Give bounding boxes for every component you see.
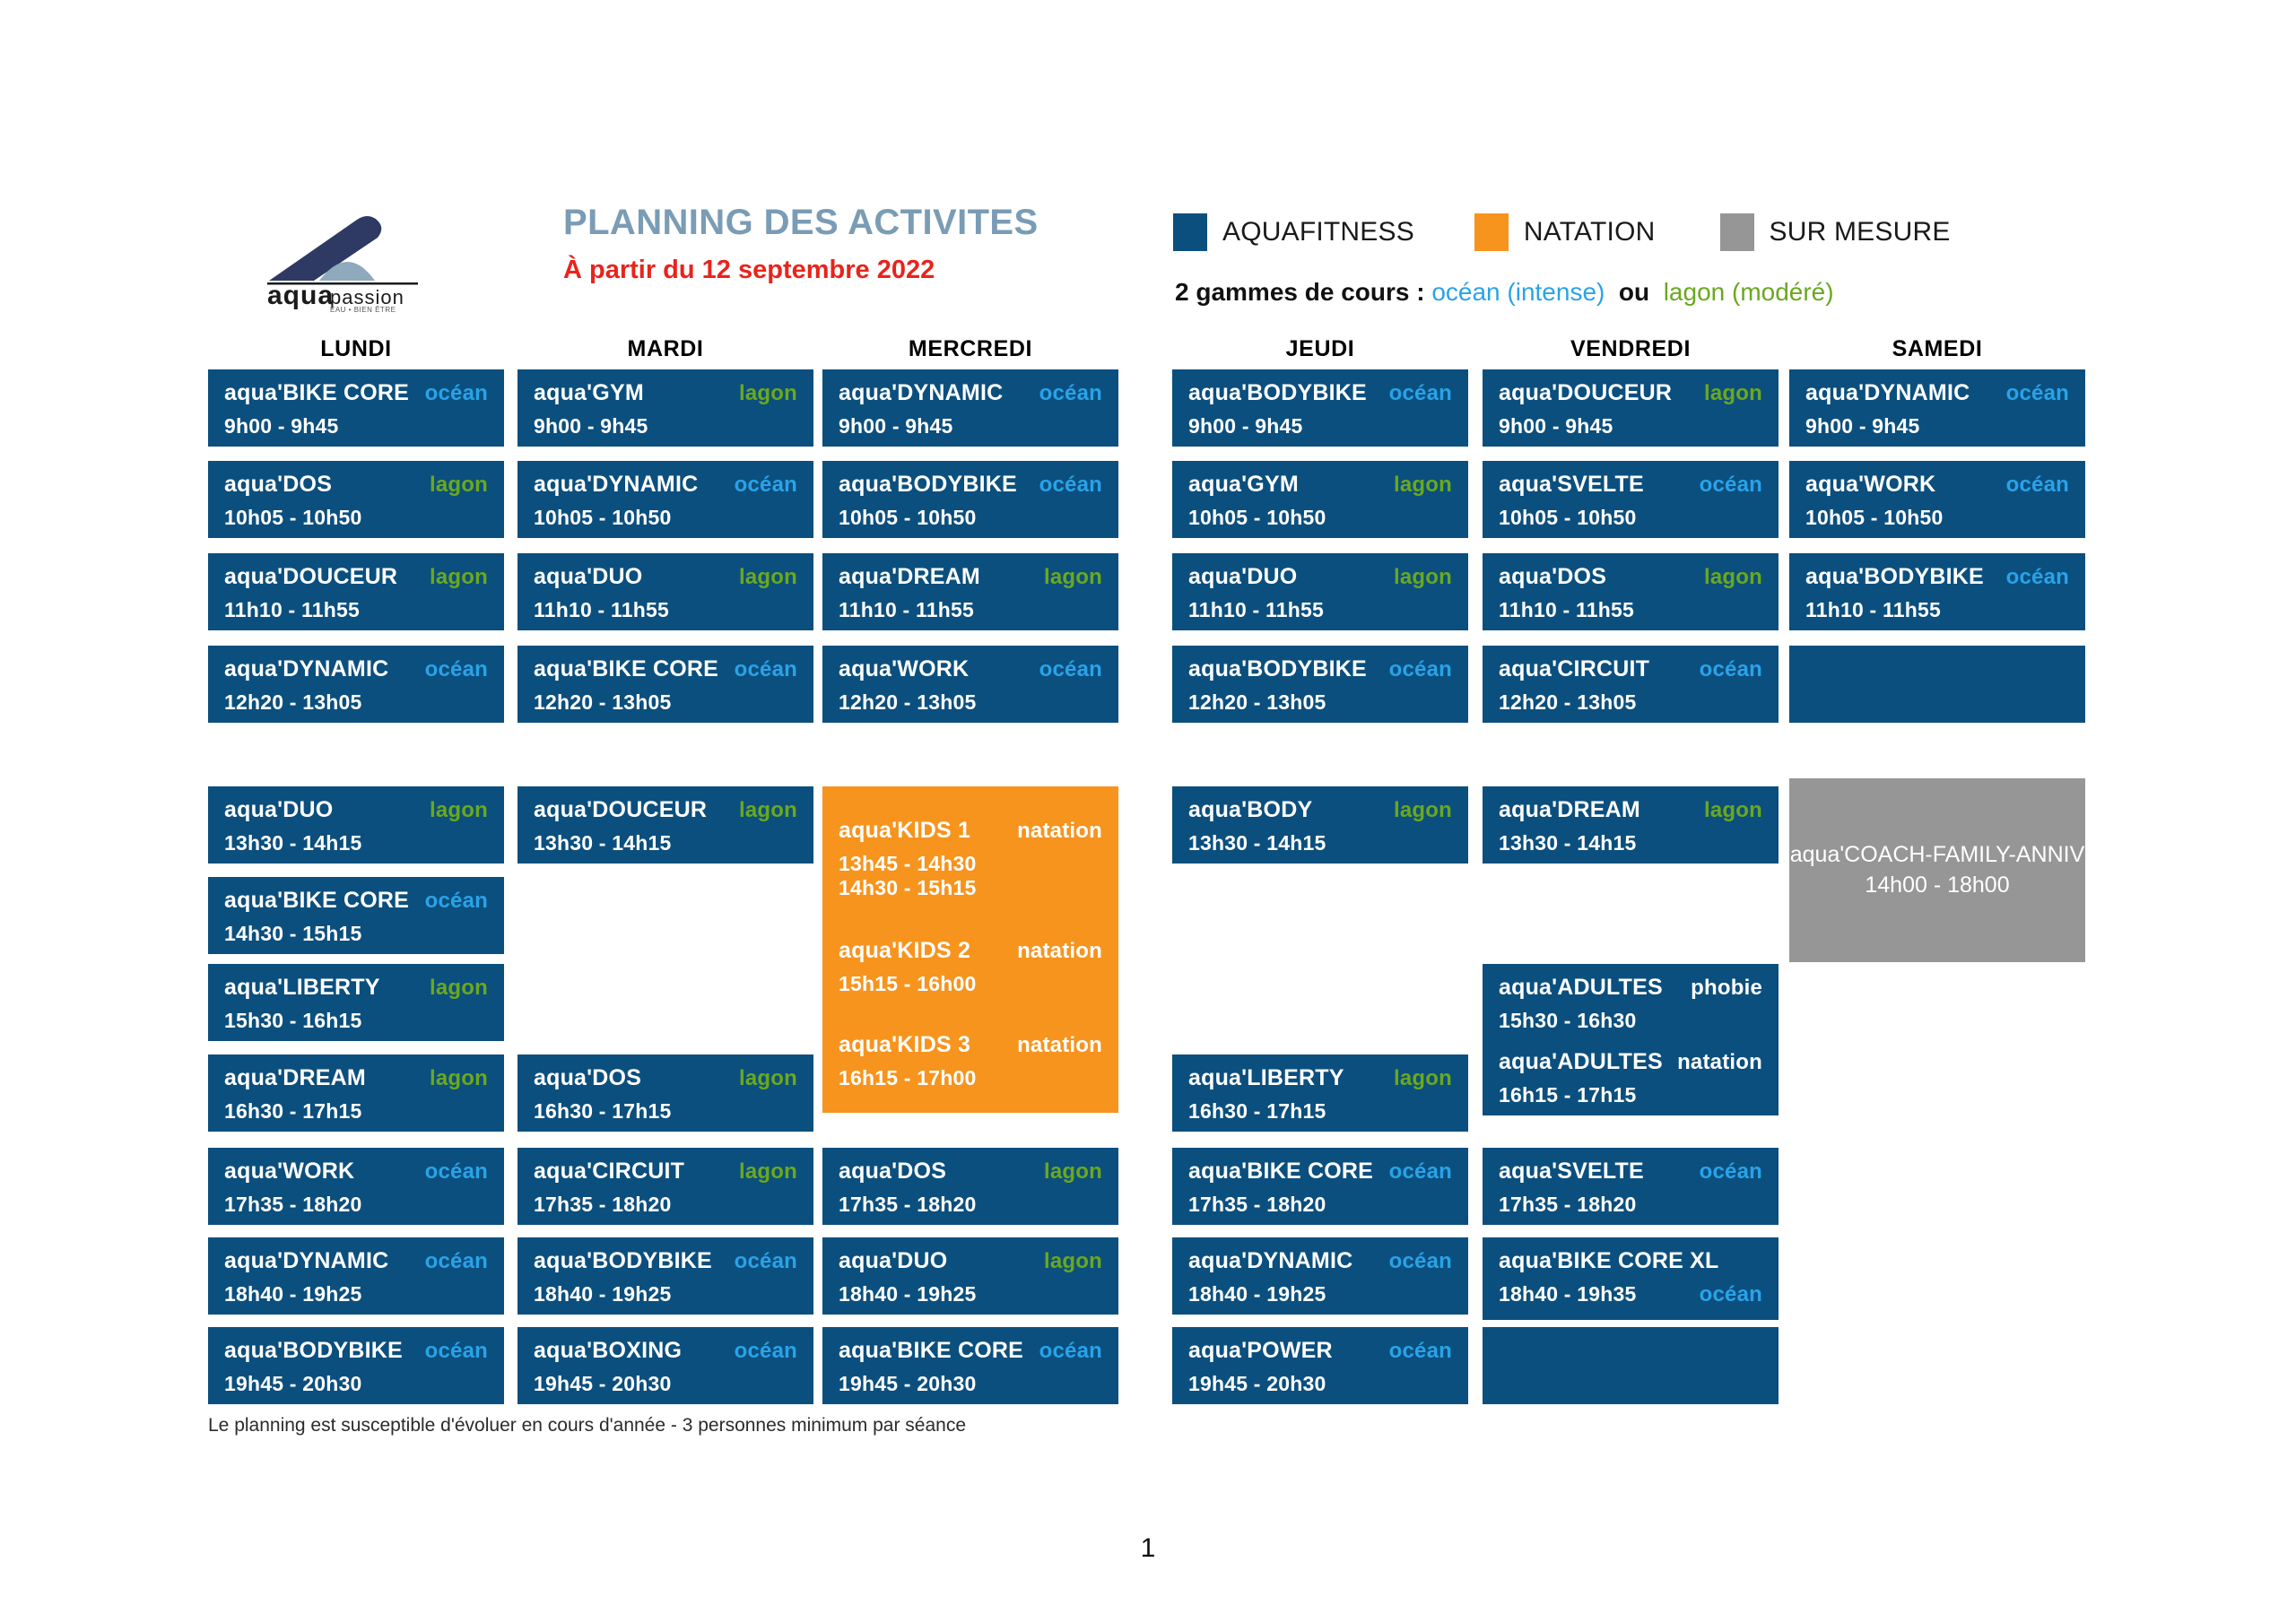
course-card[interactable]: aqua'DYNAMICocéan18h40 - 19h25 [1172, 1237, 1468, 1315]
course-tag: océan [2006, 383, 2069, 404]
course-card[interactable]: aqua'DOUCEURlagon11h10 - 11h55 [208, 553, 504, 630]
course-tag: lagon [1394, 800, 1452, 821]
course-time: 16h15 - 17h00 [839, 1066, 1102, 1090]
course-time: 10h05 - 10h50 [224, 506, 488, 530]
course-name: aqua'DUO [1188, 566, 1297, 588]
course-name: aqua'BIKE CORE [1188, 1160, 1373, 1183]
course-tag: océan [425, 383, 488, 404]
course-card[interactable]: aqua'DUOlagon18h40 - 19h25 [822, 1237, 1118, 1315]
course-card[interactable]: aqua'SVELTEocéan10h05 - 10h50 [1483, 461, 1779, 538]
course-tag: océan [735, 659, 797, 681]
course-name: aqua'DUO [224, 799, 333, 821]
course-tag: natation [1017, 820, 1102, 842]
course-card[interactable]: aqua'DYNAMICocéan10h05 - 10h50 [517, 461, 813, 538]
course-time: 18h40 - 19h25 [534, 1282, 797, 1306]
course-name: aqua'DUO [534, 566, 642, 588]
course-name: aqua'DREAM [224, 1067, 366, 1089]
course-card[interactable]: aqua'DOSlagon11h10 - 11h55 [1483, 553, 1779, 630]
course-time: 13h30 - 14h15 [1499, 831, 1762, 855]
course-card[interactable]: aqua'DREAMlagon13h30 - 14h15 [1483, 786, 1779, 864]
course-card[interactable]: aqua'WORKocéan10h05 - 10h50 [1789, 461, 2085, 538]
course-time-secondary: 14h30 - 15h15 [839, 876, 1102, 900]
course-tag: océan [2006, 567, 2069, 588]
course-tag: phobie [1691, 977, 1762, 999]
course-name: aqua'BODY [1188, 799, 1312, 821]
course-time: 14h30 - 15h15 [224, 922, 488, 946]
course-name: aqua'DREAM [1499, 799, 1640, 821]
course-name: aqua'LIBERTY [1188, 1067, 1344, 1089]
course-card[interactable]: aqua'BODYBIKEocéan12h20 - 13h05 [1172, 646, 1468, 723]
course-name: aqua'KIDS 2 [839, 940, 970, 962]
course-name: aqua'DOUCEUR [224, 566, 397, 588]
course-name: aqua'DYNAMIC [224, 1250, 388, 1272]
course-time: 18h40 - 19h25 [1188, 1282, 1452, 1306]
course-tag: océan [1039, 474, 1102, 496]
course-tag: lagon [739, 1161, 797, 1183]
course-name: aqua'KIDS 3 [839, 1034, 970, 1056]
course-tag: lagon [739, 1068, 797, 1089]
course-time: 16h15 - 17h15 [1499, 1083, 1762, 1107]
course-card[interactable]: aqua'KIDS 1natation13h45 - 14h3014h30 - … [839, 820, 1102, 900]
course-name: aqua'DYNAMIC [224, 658, 388, 681]
course-card[interactable]: aqua'ADULTESnatation16h15 - 17h15 [1483, 1038, 1779, 1115]
course-tag: océan [1700, 659, 1762, 681]
course-name: aqua'DYNAMIC [534, 473, 698, 496]
course-name: aqua'GYM [534, 382, 644, 404]
course-tag: natation [1017, 941, 1102, 962]
course-card[interactable]: aqua'BIKE COREocéan19h45 - 20h30 [822, 1327, 1118, 1404]
course-name: aqua'SVELTE [1499, 473, 1644, 496]
course-name: aqua'BODYBIKE [534, 1250, 712, 1272]
course-name: aqua'BODYBIKE [224, 1340, 403, 1362]
course-time: 17h35 - 18h20 [534, 1193, 797, 1217]
course-card[interactable]: aqua'POWERocéan19h45 - 20h30 [1172, 1327, 1468, 1404]
course-card[interactable]: aqua'DOSlagon16h30 - 17h15 [517, 1055, 813, 1132]
course-name: aqua'BODYBIKE [1188, 658, 1367, 681]
course-card-empty [1483, 1327, 1779, 1404]
course-card[interactable]: aqua'BOXINGocéan19h45 - 20h30 [517, 1327, 813, 1404]
course-time: 9h00 - 9h45 [1188, 414, 1452, 438]
course-time: 10h05 - 10h50 [1188, 506, 1452, 530]
course-card[interactable]: aqua'WORKocéan12h20 - 13h05 [822, 646, 1118, 723]
course-name: aqua'DOS [534, 1067, 641, 1089]
page-number: 1 [0, 1533, 2296, 1564]
course-card[interactable]: aqua'ADULTESphobie15h30 - 16h30 [1483, 964, 1779, 1041]
course-name: aqua'DOUCEUR [534, 799, 707, 821]
course-tag: océan [1700, 1161, 1762, 1183]
course-card[interactable]: aqua'CIRCUITocéan12h20 - 13h05 [1483, 646, 1779, 723]
course-name: aqua'BOXING [534, 1340, 682, 1362]
course-name: aqua'BODYBIKE [1188, 382, 1367, 404]
course-card[interactable]: aqua'DYNAMICocéan9h00 - 9h45 [822, 369, 1118, 447]
natation-kids-block[interactable]: aqua'KIDS 1natation13h45 - 14h3014h30 - … [822, 786, 1118, 1113]
course-tag: natation [1017, 1035, 1102, 1056]
course-tag: lagon [739, 800, 797, 821]
course-card[interactable]: aqua'DOUCEURlagon13h30 - 14h15 [517, 786, 813, 864]
course-name: aqua'COACH-FAMILY-ANNIV [1790, 840, 2085, 871]
course-time: 19h45 - 20h30 [224, 1372, 488, 1396]
course-card[interactable]: aqua'BODYBIKEocéan10h05 - 10h50 [822, 461, 1118, 538]
course-card[interactable]: aqua'DUOlagon13h30 - 14h15 [208, 786, 504, 864]
course-time: 11h10 - 11h55 [534, 598, 797, 622]
course-time: 12h20 - 13h05 [534, 690, 797, 715]
course-time: 15h30 - 16h30 [1499, 1009, 1762, 1033]
course-name: aqua'DYNAMIC [1188, 1250, 1352, 1272]
course-card[interactable]: aqua'LIBERTYlagon16h30 - 17h15 [1172, 1055, 1468, 1132]
course-tag: océan [1039, 659, 1102, 681]
course-time: 12h20 - 13h05 [1188, 690, 1452, 715]
course-tag: océan [735, 1251, 797, 1272]
course-time: 18h40 - 19h25 [224, 1282, 488, 1306]
course-tag: lagon [1704, 567, 1762, 588]
course-time: 9h00 - 9h45 [1805, 414, 2069, 438]
sur-mesure-block[interactable]: aqua'COACH-FAMILY-ANNIV14h00 - 18h00 [1789, 778, 2085, 962]
course-tag: océan [425, 1341, 488, 1362]
course-name: aqua'KIDS 1 [839, 820, 970, 842]
course-time: 9h00 - 9h45 [839, 414, 1102, 438]
course-time: 19h45 - 20h30 [534, 1372, 797, 1396]
course-time: 18h40 - 19h35 [1499, 1282, 1636, 1306]
course-name: aqua'DYNAMIC [1805, 382, 1970, 404]
course-tag: lagon [1044, 1251, 1102, 1272]
course-card[interactable]: aqua'WORKocéan17h35 - 18h20 [208, 1148, 504, 1225]
course-card[interactable]: aqua'DOSlagon10h05 - 10h50 [208, 461, 504, 538]
course-card[interactable]: aqua'BIKE COREocéan9h00 - 9h45 [208, 369, 504, 447]
course-name: aqua'DREAM [839, 566, 980, 588]
course-name: aqua'POWER [1188, 1340, 1333, 1362]
course-card[interactable]: aqua'KIDS 3natation16h15 - 17h00 [839, 1034, 1102, 1090]
course-name: aqua'ADULTES [1499, 1051, 1663, 1073]
course-tag: lagon [739, 567, 797, 588]
course-name: aqua'BODYBIKE [1805, 566, 1984, 588]
course-time: 17h35 - 18h20 [839, 1193, 1102, 1217]
course-time: 19h45 - 20h30 [839, 1372, 1102, 1396]
course-name: aqua'DOS [1499, 566, 1606, 588]
course-card[interactable]: aqua'GYMlagon10h05 - 10h50 [1172, 461, 1468, 538]
course-tag: océan [735, 474, 797, 496]
course-time: 13h30 - 14h15 [224, 831, 488, 855]
course-card[interactable]: aqua'BODYlagon13h30 - 14h15 [1172, 786, 1468, 864]
course-time: 19h45 - 20h30 [1188, 1372, 1452, 1396]
course-tag: lagon [1044, 567, 1102, 588]
course-tag: océan [1039, 1341, 1102, 1362]
course-card[interactable]: aqua'BODYBIKEocéan9h00 - 9h45 [1172, 369, 1468, 447]
course-name: aqua'DOUCEUR [1499, 382, 1672, 404]
course-card[interactable]: aqua'DOUCEURlagon9h00 - 9h45 [1483, 369, 1779, 447]
course-time: 10h05 - 10h50 [839, 506, 1102, 530]
course-tag: océan [425, 1251, 488, 1272]
course-time: 12h20 - 13h05 [839, 690, 1102, 715]
course-card[interactable]: aqua'DREAMlagon16h30 - 17h15 [208, 1055, 504, 1132]
course-tag: océan [1039, 383, 1102, 404]
course-time: 11h10 - 11h55 [224, 598, 488, 622]
course-time: 9h00 - 9h45 [224, 414, 488, 438]
course-name: aqua'DOS [839, 1160, 946, 1183]
course-tag: lagon [430, 1068, 488, 1089]
course-name: aqua'WORK [224, 1160, 354, 1183]
course-tag: lagon [1394, 474, 1452, 496]
course-tag: océan [1389, 659, 1452, 681]
course-tag: océan [1389, 1161, 1452, 1183]
course-card[interactable]: aqua'KIDS 2natation15h15 - 16h00 [839, 940, 1102, 996]
course-tag: océan [425, 890, 488, 912]
course-time: 11h10 - 11h55 [839, 598, 1102, 622]
course-name: aqua'DUO [839, 1250, 947, 1272]
course-name: aqua'BIKE CORE [839, 1340, 1023, 1362]
course-time: 9h00 - 9h45 [1499, 414, 1762, 438]
course-tag: océan [425, 659, 488, 681]
course-card[interactable]: aqua'DYNAMICocéan12h20 - 13h05 [208, 646, 504, 723]
course-time: 13h45 - 14h3014h30 - 15h15 [839, 852, 1102, 900]
course-card[interactable]: aqua'BODYBIKEocéan18h40 - 19h25 [517, 1237, 813, 1315]
course-time: 18h40 - 19h25 [839, 1282, 1102, 1306]
course-tag: océan [1700, 474, 1762, 496]
course-name: aqua'GYM [1188, 473, 1299, 496]
course-card[interactable]: aqua'BIKE COREocéan12h20 - 13h05 [517, 646, 813, 723]
course-time: 17h35 - 18h20 [1499, 1193, 1762, 1217]
course-time: 10h05 - 10h50 [1499, 506, 1762, 530]
course-name: aqua'BIKE CORE [534, 658, 718, 681]
course-tag: océan [1700, 1282, 1762, 1307]
course-time: 14h00 - 18h00 [1790, 871, 2085, 901]
course-tag: lagon [739, 383, 797, 404]
course-tag: océan [2006, 474, 2069, 496]
course-tag: lagon [1394, 1068, 1452, 1089]
course-name: aqua'DYNAMIC [839, 382, 1003, 404]
course-tag: lagon [1704, 800, 1762, 821]
course-card[interactable]: aqua'LIBERTYlagon15h30 - 16h15 [208, 964, 504, 1041]
course-time: 9h00 - 9h45 [534, 414, 797, 438]
course-tag: océan [735, 1341, 797, 1362]
course-tag: lagon [430, 474, 488, 496]
course-name: aqua'BIKE CORE [224, 382, 409, 404]
course-time: 11h10 - 11h55 [1499, 598, 1762, 622]
course-card[interactable]: aqua'DYNAMICocéan9h00 - 9h45 [1789, 369, 2085, 447]
course-tag: océan [1389, 1341, 1452, 1362]
course-name: aqua'BODYBIKE [839, 473, 1017, 496]
course-time: 17h35 - 18h20 [1188, 1193, 1452, 1217]
course-tag: lagon [1044, 1161, 1102, 1183]
course-name: aqua'DOS [224, 473, 332, 496]
course-tag: lagon [430, 567, 488, 588]
course-time: 15h30 - 16h15 [224, 1009, 488, 1033]
course-card[interactable]: aqua'DUOlagon11h10 - 11h55 [517, 553, 813, 630]
course-tag: natation [1677, 1052, 1762, 1073]
course-name: aqua'WORK [839, 658, 969, 681]
footnote: Le planning est susceptible d'évoluer en… [208, 1415, 966, 1436]
course-time: 13h30 - 14h15 [1188, 831, 1452, 855]
course-tag: lagon [1704, 383, 1762, 404]
course-card[interactable]: aqua'BODYBIKEocéan19h45 - 20h30 [208, 1327, 504, 1404]
schedule-grid: aqua'BIKE COREocéan9h00 - 9h45aqua'DOSla… [0, 0, 2296, 1623]
course-card[interactable]: aqua'BODYBIKEocéan11h10 - 11h55 [1789, 553, 2085, 630]
course-tag: lagon [1394, 567, 1452, 588]
course-time: 12h20 - 13h05 [224, 690, 488, 715]
course-time: 16h30 - 17h15 [1188, 1099, 1452, 1124]
course-card[interactable]: aqua'BIKE COREocéan17h35 - 18h20 [1172, 1148, 1468, 1225]
course-card[interactable]: aqua'CIRCUITlagon17h35 - 18h20 [517, 1148, 813, 1225]
course-name: aqua'BIKE CORE [224, 890, 409, 912]
course-card[interactable]: aqua'BIKE CORE XL18h40 - 19h35océan [1483, 1237, 1779, 1320]
course-name: aqua'BIKE CORE XL [1499, 1248, 1719, 1273]
course-card[interactable]: aqua'GYMlagon9h00 - 9h45 [517, 369, 813, 447]
course-time: 15h15 - 16h00 [839, 972, 1102, 996]
course-name: aqua'SVELTE [1499, 1160, 1644, 1183]
course-name: aqua'ADULTES [1499, 976, 1663, 999]
course-card[interactable]: aqua'DOSlagon17h35 - 18h20 [822, 1148, 1118, 1225]
course-time: 12h20 - 13h05 [1499, 690, 1762, 715]
course-tag: océan [1389, 1251, 1452, 1272]
course-time: 16h30 - 17h15 [534, 1099, 797, 1124]
course-tag: lagon [430, 800, 488, 821]
course-name: aqua'WORK [1805, 473, 1935, 496]
course-time: 11h10 - 11h55 [1805, 598, 2069, 622]
course-tag: lagon [430, 977, 488, 999]
course-tag: océan [1389, 383, 1452, 404]
course-name: aqua'LIBERTY [224, 976, 380, 999]
course-card[interactable]: aqua'BIKE COREocéan14h30 - 15h15 [208, 877, 504, 954]
course-name: aqua'CIRCUIT [1499, 658, 1649, 681]
course-name: aqua'CIRCUIT [534, 1160, 684, 1183]
course-card-empty [1789, 646, 2085, 723]
course-time: 13h30 - 14h15 [534, 831, 797, 855]
course-card[interactable]: aqua'DUOlagon11h10 - 11h55 [1172, 553, 1468, 630]
course-tag: océan [425, 1161, 488, 1183]
course-card[interactable]: aqua'DREAMlagon11h10 - 11h55 [822, 553, 1118, 630]
course-time: 10h05 - 10h50 [534, 506, 797, 530]
course-card[interactable]: aqua'SVELTEocéan17h35 - 18h20 [1483, 1148, 1779, 1225]
course-time: 16h30 - 17h15 [224, 1099, 488, 1124]
course-card[interactable]: aqua'DYNAMICocéan18h40 - 19h25 [208, 1237, 504, 1315]
planning-page: aqua passion EAU • BIEN ÊTRE PLANNING DE… [0, 0, 2296, 1623]
course-time: 11h10 - 11h55 [1188, 598, 1452, 622]
course-time: 10h05 - 10h50 [1805, 506, 2069, 530]
course-time: 17h35 - 18h20 [224, 1193, 488, 1217]
